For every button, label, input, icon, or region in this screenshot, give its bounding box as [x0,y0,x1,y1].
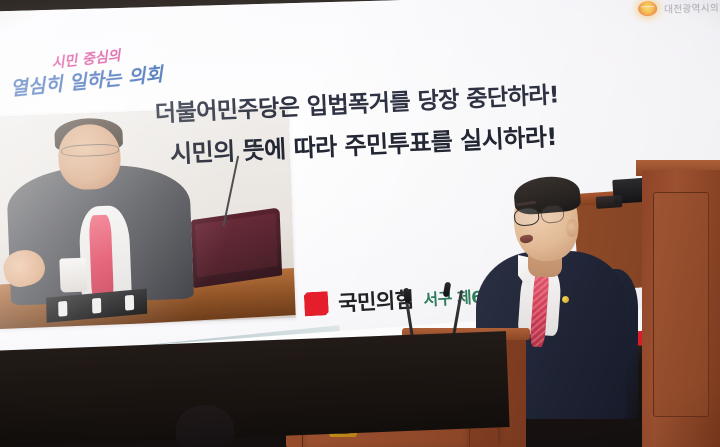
nameplate-char [59,301,68,317]
seated-attendee-head [176,405,234,447]
slogan-line-2: 열심히 일하는 의회 [9,59,164,101]
inset-photo-cup [59,258,87,293]
nameplate-char [92,298,101,314]
inset-photo-person-tie [89,214,114,300]
daejeon-council-sun-mark-icon [638,1,657,17]
inset-photo-laptop [191,207,282,288]
nameplate-char [126,295,135,311]
people-power-party-mark-icon [304,291,329,316]
foreground-gallery-shadow [0,331,510,447]
council-logo-label: 대전광역시의회 [664,0,720,15]
glasses-lens-right [540,204,565,224]
screenshot-root: 대전광역시의회 시민 중심의 열심히 일하는 의회 [0,0,720,447]
speaker-ear [566,219,578,237]
speaker-lapel-pin-icon [562,296,569,303]
council-logo: 대전광역시의회 [638,0,720,16]
